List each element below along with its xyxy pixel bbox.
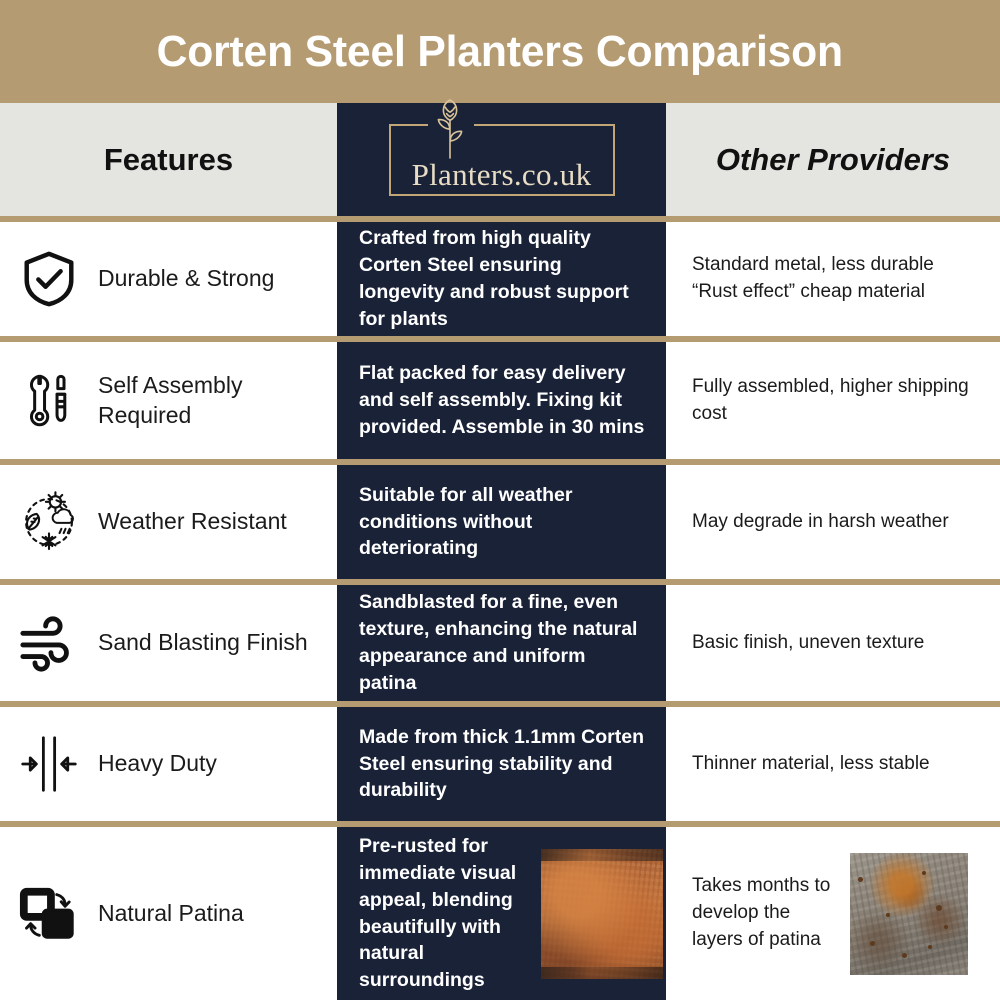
thickness-arrows-icon <box>12 727 86 801</box>
page-title-banner: Corten Steel Planters Comparison <box>0 0 1000 103</box>
feature-label: Self Assembly Required <box>98 371 337 430</box>
brand-description: Suitable for all weather conditions with… <box>359 482 646 563</box>
comparison-table-page: Corten Steel Planters Comparison Feature… <box>0 0 1000 1000</box>
brand-description: Pre-rusted for immediate visual appeal, … <box>359 833 527 994</box>
row-divider <box>0 821 1000 827</box>
page-title: Corten Steel Planters Comparison <box>157 27 843 77</box>
feature-label: Heavy Duty <box>98 749 217 778</box>
brand-cell: Flat packed for easy delivery and self a… <box>337 342 666 459</box>
row-divider <box>0 579 1000 585</box>
brand-cell: Suitable for all weather conditions with… <box>337 465 666 579</box>
feature-cell: Durable & Strong <box>0 222 337 336</box>
wrench-screwdriver-icon <box>12 364 86 438</box>
brand-description: Crafted from high quality Corten Steel e… <box>359 225 646 333</box>
feature-cell: Heavy Duty <box>0 707 337 821</box>
rust-orange-patina-photo <box>541 849 663 979</box>
table-row: Heavy Duty Made from thick 1.1mm Corten … <box>0 707 1000 821</box>
four-seasons-weather-icon <box>12 485 86 559</box>
header-cell-brand: Planters.co.uk <box>337 103 666 216</box>
brand-logo: Planters.co.uk <box>389 124 615 196</box>
other-description: Thinner material, less stable <box>692 751 930 778</box>
feature-label: Weather Resistant <box>98 507 287 536</box>
feature-label: Natural Patina <box>98 899 244 928</box>
brand-cell: Pre-rusted for immediate visual appeal, … <box>337 827 666 1000</box>
other-description: May degrade in harsh weather <box>692 509 949 536</box>
feature-label: Durable & Strong <box>98 264 274 293</box>
table-row: Self Assembly Required Flat packed for e… <box>0 342 1000 459</box>
rose-flower-icon <box>424 96 476 162</box>
feature-cell: Self Assembly Required <box>0 342 337 459</box>
table-row: Sand Blasting Finish Sandblasted for a f… <box>0 585 1000 701</box>
other-cell: Fully assembled, higher shipping cost <box>666 342 1000 459</box>
row-divider <box>0 459 1000 465</box>
features-column-title: Features <box>104 142 233 178</box>
other-description: Fully assembled, higher shipping cost <box>692 374 982 428</box>
header-cell-features: Features <box>0 103 337 216</box>
other-cell: Thinner material, less stable <box>666 707 1000 821</box>
row-divider <box>0 701 1000 707</box>
table-row: Natural Patina Pre-rusted for immediate … <box>0 827 1000 1000</box>
table-row: Weather Resistant Suitable for all weath… <box>0 465 1000 579</box>
feature-cell: Weather Resistant <box>0 465 337 579</box>
brand-description: Made from thick 1.1mm Corten Steel ensur… <box>359 724 646 805</box>
feature-label: Sand Blasting Finish <box>98 628 308 657</box>
brand-description: Flat packed for easy delivery and self a… <box>359 360 646 441</box>
other-providers-column-title: Other Providers <box>716 142 950 178</box>
feature-cell: Natural Patina <box>0 827 337 1000</box>
patina-transform-icon <box>12 877 86 951</box>
other-description: Takes months to develop the layers of pa… <box>692 873 840 954</box>
row-divider <box>0 216 1000 222</box>
brand-cell: Crafted from high quality Corten Steel e… <box>337 222 666 336</box>
other-description: Basic finish, uneven texture <box>692 630 924 657</box>
brand-cell: Sandblasted for a fine, even texture, en… <box>337 585 666 701</box>
table-header-row: Features Planters.co.uk <box>0 103 1000 216</box>
header-cell-other: Other Providers <box>666 103 1000 216</box>
other-cell: May degrade in harsh weather <box>666 465 1000 579</box>
row-divider <box>0 336 1000 342</box>
other-description: Standard metal, less durable “Rust effec… <box>692 252 982 306</box>
brand-logo-text: Planters.co.uk <box>412 159 592 190</box>
wind-blast-icon <box>12 606 86 680</box>
other-cell: Standard metal, less durable “Rust effec… <box>666 222 1000 336</box>
other-cell: Basic finish, uneven texture <box>666 585 1000 701</box>
table-row: Durable & Strong Crafted from high quali… <box>0 222 1000 336</box>
brand-description: Sandblasted for a fine, even texture, en… <box>359 589 646 697</box>
brand-cell: Made from thick 1.1mm Corten Steel ensur… <box>337 707 666 821</box>
other-cell: Takes months to develop the layers of pa… <box>666 827 1000 1000</box>
shield-check-icon <box>12 242 86 316</box>
feature-cell: Sand Blasting Finish <box>0 585 337 701</box>
weathered-grey-steel-photo <box>840 853 968 975</box>
